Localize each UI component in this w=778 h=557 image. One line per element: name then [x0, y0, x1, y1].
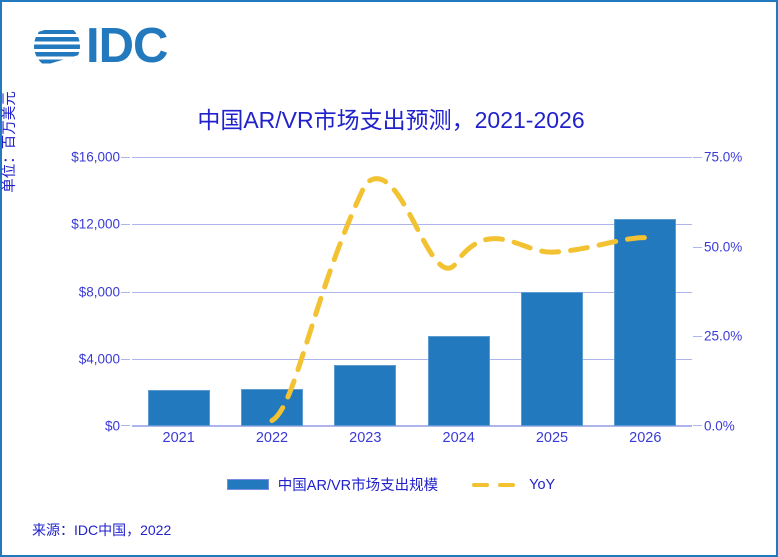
legend-item-line: YoY: [472, 477, 555, 493]
x-tick-label-2025: 2025: [536, 430, 568, 446]
legend-dashed-line-icon: [472, 479, 520, 490]
legend-line-label: YoY: [529, 477, 555, 493]
chart-legend: 中国AR/VR市场支出规模 YoY: [2, 474, 778, 495]
legend-bar-swatch-icon: [227, 479, 269, 490]
y-axis-right: 75.0% 50.0% 25.0% 0.0%: [704, 157, 774, 426]
chart-title: 中国AR/VR市场支出预测，2021-2026: [2, 101, 778, 135]
legend-bar-label: 中国AR/VR市场支出规模: [278, 474, 438, 495]
plot-area: [132, 157, 692, 426]
idc-globe-icon: [32, 21, 82, 71]
y-tick-label-8000: $8,000: [79, 284, 120, 299]
y-axis-left: $16,000 $12,000 $8,000 $4,000 $0: [32, 157, 120, 426]
y-tick-label-12000: $12,000: [71, 217, 120, 232]
x-tick-label-2023: 2023: [349, 430, 381, 446]
y-axis-title: 单位：百万美元: [0, 52, 19, 232]
tick-left-12000: [121, 224, 130, 225]
x-axis: 2021 2022 2023 2024 2025 2026: [132, 430, 692, 452]
tick-right-75: [693, 157, 702, 158]
source-note: 来源：IDC中国，2022: [32, 520, 171, 540]
idc-logo: IDC: [32, 20, 167, 72]
x-tick-label-2022: 2022: [256, 430, 288, 446]
tick-left-0: [121, 425, 130, 426]
y-tick-label-0: $0: [105, 419, 120, 434]
tick-right-50: [693, 247, 702, 248]
y2-tick-label-75: 75.0%: [704, 150, 742, 165]
yoy-line-path: [272, 179, 645, 421]
x-tick-label-2024: 2024: [443, 430, 475, 446]
x-tick-label-2026: 2026: [629, 430, 661, 446]
legend-item-bar: 中国AR/VR市场支出规模: [227, 474, 438, 495]
y-tick-label-4000: $4,000: [79, 351, 120, 366]
chart-frame: IDC 中国AR/VR市场支出预测，2021-2026 $16,000 $12,…: [0, 0, 778, 557]
tick-left-16000: [121, 157, 130, 158]
yoy-line-series: [132, 157, 692, 426]
y2-tick-label-50: 50.0%: [704, 239, 742, 254]
y-tick-label-16000: $16,000: [71, 150, 120, 165]
y2-tick-label-25: 25.0%: [704, 329, 742, 344]
y2-tick-label-0: 0.0%: [704, 419, 735, 434]
tick-left-4000: [121, 359, 130, 360]
x-tick-label-2021: 2021: [163, 430, 195, 446]
idc-logo-text: IDC: [86, 21, 167, 71]
tick-left-8000: [121, 292, 130, 293]
tick-right-25: [693, 336, 702, 337]
tick-right-0: [693, 425, 702, 426]
